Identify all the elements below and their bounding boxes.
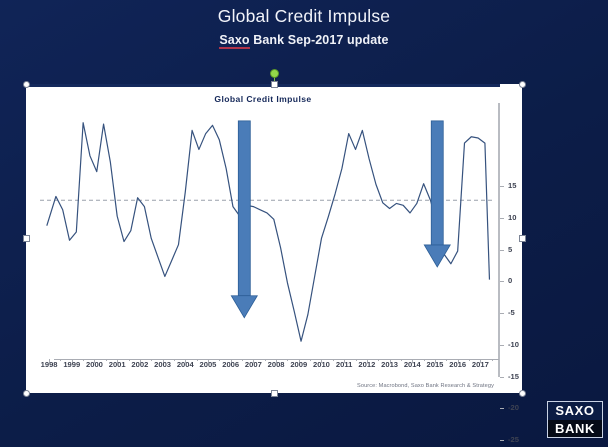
y-tick-label: -20 xyxy=(508,403,542,412)
down-arrow-annotation-1[interactable] xyxy=(231,121,257,318)
x-tick-label: 2001 xyxy=(109,360,126,369)
resize-handle-middle-left[interactable] xyxy=(23,235,30,242)
logo-line-bank: BANK xyxy=(548,420,602,438)
x-tick-label: 2012 xyxy=(358,360,375,369)
x-tick-label: 2015 xyxy=(427,360,444,369)
y-tick-label: 0 xyxy=(508,276,542,285)
annotation-arrows xyxy=(231,121,450,318)
y-tick-mark xyxy=(500,250,504,251)
y-tick-mark xyxy=(500,345,504,346)
resize-handle-top-center[interactable] xyxy=(271,81,278,88)
x-tick-label: 1998 xyxy=(41,360,58,369)
saxo-bank-logo: SAXO BANK xyxy=(547,401,603,438)
misspelled-word: Saxo xyxy=(219,33,249,49)
page-title: Global Credit Impulse xyxy=(0,6,608,27)
x-tick-label: 2004 xyxy=(177,360,194,369)
y-tick-mark xyxy=(500,440,504,441)
x-tick-label: 2008 xyxy=(268,360,285,369)
y-tick-mark xyxy=(500,218,504,219)
resize-handle-bottom-right[interactable] xyxy=(519,390,526,397)
credit-impulse-line xyxy=(47,123,490,341)
resize-handle-top-right[interactable] xyxy=(519,81,526,88)
plot-area xyxy=(40,105,494,359)
y-tick-label: -10 xyxy=(508,340,542,349)
page-subtitle: Saxo Bank Sep-2017 update xyxy=(0,33,608,47)
y-tick-mark xyxy=(500,281,504,282)
x-tick-label: 2005 xyxy=(200,360,217,369)
logo-line-saxo: SAXO xyxy=(548,402,602,420)
y-tick-label: 5 xyxy=(508,245,542,254)
y-tick-label: -5 xyxy=(508,308,542,317)
x-tick-label: 2006 xyxy=(222,360,239,369)
y-tick-label: 10 xyxy=(508,213,542,222)
x-tick-label: 2016 xyxy=(449,360,466,369)
y-tick-label: -15 xyxy=(508,372,542,381)
resize-handle-bottom-center[interactable] xyxy=(271,390,278,397)
x-tick-label: 2010 xyxy=(313,360,330,369)
y-tick-mark xyxy=(500,377,504,378)
chart-title: Global Credit Impulse xyxy=(26,94,500,104)
x-tick-label: 2002 xyxy=(131,360,148,369)
rotate-handle[interactable] xyxy=(271,70,278,77)
x-tick-label: 2017 xyxy=(472,360,489,369)
chart-object[interactable]: Global Credit Impulse Source: Macrobond,… xyxy=(26,84,500,393)
x-tick-label: 2013 xyxy=(381,360,398,369)
x-tick-label: 2000 xyxy=(86,360,103,369)
y-tick-mark xyxy=(500,408,504,409)
y-tick-label: 15 xyxy=(508,181,542,190)
x-tick-label: 2007 xyxy=(245,360,262,369)
slide-canvas: Global Credit Impulse Saxo Bank Sep-2017… xyxy=(0,0,608,447)
resize-handle-top-left[interactable] xyxy=(23,81,30,88)
y-tick-mark xyxy=(500,313,504,314)
resize-handle-middle-right[interactable] xyxy=(519,235,526,242)
source-note: Source: Macrobond, Saxo Bank Research & … xyxy=(357,383,494,389)
plot-svg xyxy=(40,105,494,359)
x-axis-labels: 1998199920002001200220032004200520062007… xyxy=(26,360,500,376)
x-tick-label: 2014 xyxy=(404,360,421,369)
x-tick-label: 2009 xyxy=(290,360,307,369)
page-subtitle-rest: Bank Sep-2017 update xyxy=(250,33,389,47)
x-tick-label: 2003 xyxy=(154,360,171,369)
x-tick-label: 1999 xyxy=(63,360,80,369)
resize-handle-bottom-left[interactable] xyxy=(23,390,30,397)
y-tick-mark xyxy=(500,186,504,187)
y-tick-label: -25 xyxy=(508,435,542,444)
x-tick-label: 2011 xyxy=(336,360,352,369)
